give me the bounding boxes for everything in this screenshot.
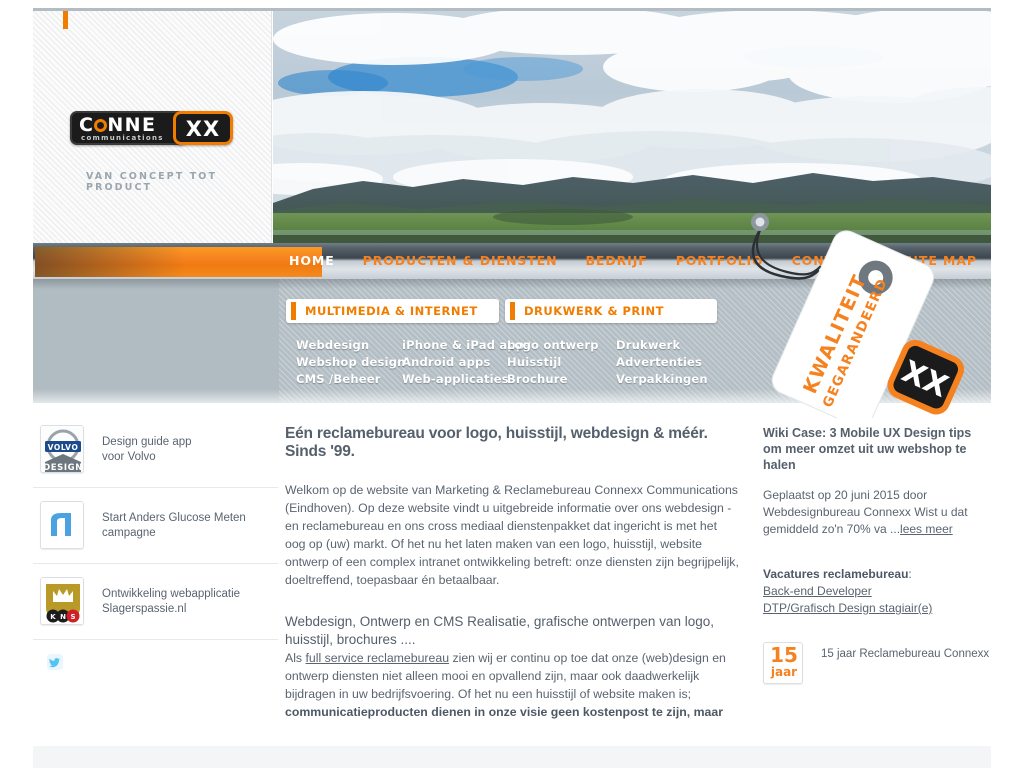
jubileum-row: 15 jaar 15 jaar Reclamebureau Connexx [763,642,991,684]
nav-item-sitemap[interactable]: SITE MAP [903,243,977,279]
page-title-line1: Eén reclamebureau voor logo, huisstijl, … [285,425,708,442]
submenu-links-drukwerk: Logo ontwerp Huisstijl Brochure Drukwerk… [505,337,717,388]
submenu-heading-bar [510,302,515,320]
svg-text:K: K [50,613,56,621]
second-paragraph: Als full service reclamebureau zien wij … [285,649,740,721]
promo-text: Ontwikkeling webapplicatie Slagerspassie… [102,577,240,617]
p2-pre: Als [285,651,306,665]
vacatures-colon: : [908,567,911,581]
submenu-link-huisstijl[interactable]: Huisstijl [507,354,616,371]
orange-tab-marker [63,11,68,29]
nav-item-portfolio[interactable]: PORTFOLIO [662,243,778,279]
submenu-link-cms-beheer[interactable]: CMS /Beheer [296,371,402,388]
promo-line2: Slagerspassie.nl [102,603,186,615]
site-wrapper: CNNE communications XX VAN CONCEPT TOT P… [33,8,991,403]
submenu-link-logo-ontwerp[interactable]: Logo ontwerp [507,337,616,354]
submenu-top-shadow [33,279,991,289]
vacature-link-dtp-stagiair[interactable]: DTP/Grafisch Design stagiair(e) [763,600,991,617]
promo-line1: Ontwikkeling webapplicatie [102,588,240,600]
logo-o-ring [94,119,107,132]
promo-line1: Start Anders Glucose Meten [102,512,246,524]
vacatures-block: Vacatures reclamebureau: Back-end Develo… [763,566,991,617]
vacatures-label: Vacatures reclamebureau [763,567,908,581]
submenu-column-multimedia: MULTIMEDIA & INTERNET Webdesign Webshop … [286,299,499,388]
left-sidebar: VOLVO DESIGN Design guide app voor Volvo [33,425,278,676]
p2-bold: communicatieproducten dienen in onze vis… [285,705,723,719]
wiki-case-body: Geplaatst op 20 juni 2015 door Webdesign… [763,487,991,538]
submenu-link-webdesign[interactable]: Webdesign [296,337,402,354]
svg-text:DESIGN: DESIGN [43,463,83,473]
promo-text: Start Anders Glucose Meten campagne [102,501,246,541]
footer-band [33,746,991,768]
submenu-link-brochure[interactable]: Brochure [507,371,616,388]
right-sidebar: Wiki Case: 3 Mobile UX Design tips om me… [763,425,991,684]
submenu-links-col-left: Webdesign Webshop design CMS /Beheer [296,337,402,388]
svg-text:S: S [70,613,75,621]
main-navigation: HOME PRODUCTEN & DIENSTEN BEDRIJF PORTFO… [33,243,991,279]
site-header: CNNE communications XX VAN CONCEPT TOT P… [33,11,991,243]
svg-text:VOLVO: VOLVO [48,443,79,452]
svg-text:N: N [60,613,66,621]
wiki-case-title[interactable]: Wiki Case: 3 Mobile UX Design tips om me… [763,425,991,473]
submenu-heading-multimedia[interactable]: MULTIMEDIA & INTERNET [286,299,499,323]
submenu-heading-text: MULTIMEDIA & INTERNET [305,304,478,318]
jubileum-badge-icon: 15 jaar [763,642,803,684]
lees-meer-link[interactable]: lees meer [900,522,953,536]
logo-conne-block: CNNE communications [70,111,187,145]
volvo-design-logo-icon: VOLVO DESIGN [40,425,84,473]
jubileum-word: jaar [764,665,804,679]
nav-items: HOME PRODUCTEN & DIENSTEN BEDRIJF PORTFO… [275,243,877,279]
twitter-icon[interactable] [46,653,278,676]
hero-landscape-image [273,11,991,243]
site-logo[interactable]: CNNE communications XX [70,111,233,145]
promo-text: Design guide app voor Volvo [102,425,192,465]
logo-xx-block: XX [173,111,233,145]
submenu-bottom-fade [33,389,991,403]
hero-svg [273,11,991,243]
vacature-link-backend-developer[interactable]: Back-end Developer [763,583,991,600]
main-content: VOLVO DESIGN Design guide app voor Volvo [33,425,991,715]
submenu-column-drukwerk: DRUKWERK & PRINT Logo ontwerp Huisstijl … [505,299,717,388]
abbott-logo-icon [40,501,84,549]
submenu-link-advertenties[interactable]: Advertenties [616,354,708,371]
submenu-band: MULTIMEDIA & INTERNET Webdesign Webshop … [33,279,991,403]
promo-item[interactable]: VOLVO DESIGN Design guide app voor Volvo [33,425,278,488]
page-title-line2: Sinds '99. [285,443,355,460]
logo-subtitle: communications [81,134,164,142]
promo-line2: campagne [102,527,156,539]
submenu-heading-drukwerk[interactable]: DRUKWERK & PRINT [505,299,717,323]
promo-item[interactable]: Start Anders Glucose Meten campagne [33,501,278,564]
submenu-link-drukwerk[interactable]: Drukwerk [616,337,708,354]
page-title: Eén reclamebureau voor logo, huisstijl, … [285,425,740,461]
promo-item[interactable]: K N S Ontwikkeling webapplicatie Slagers… [33,577,278,640]
brand-tagline: VAN CONCEPT TOT PRODUCT [86,171,271,193]
logo-xx-text: XX [176,117,230,141]
vacatures-heading: Vacatures reclamebureau: [763,566,991,583]
nav-item-contact[interactable]: CONTACT [778,243,878,279]
submenu-links-multimedia: Webdesign Webshop design CMS /Beheer iPh… [286,337,499,388]
intro-paragraph: Welkom op de website van Marketing & Rec… [285,481,740,589]
section-subtitle: Webdesign, Ontwerp en CMS Realisatie, gr… [285,613,740,649]
submenu-links-col-right: Drukwerk Advertenties Verpakkingen [616,337,708,388]
kns-crown-logo-icon: K N S [40,577,84,625]
submenu-heading-text: DRUKWERK & PRINT [524,304,664,318]
nav-item-home[interactable]: HOME [275,243,349,279]
logo-panel: CNNE communications XX VAN CONCEPT TOT P… [33,11,272,243]
full-service-link[interactable]: full service reclamebureau [306,651,450,665]
submenu-link-verpakkingen[interactable]: Verpakkingen [616,371,708,388]
logo-conne-text: CNNE [79,115,156,135]
nav-item-bedrijf[interactable]: BEDRIJF [571,243,661,279]
submenu-link-webshop-design[interactable]: Webshop design [296,354,402,371]
page-root: CNNE communications XX VAN CONCEPT TOT P… [0,0,1024,768]
jubileum-text: 15 jaar Reclamebureau Connexx [821,642,989,660]
promo-line2: voor Volvo [102,451,156,463]
nav-item-producten-diensten[interactable]: PRODUCTEN & DIENSTEN [349,243,572,279]
submenu-heading-bar [291,302,296,320]
promo-line1: Design guide app [102,436,192,448]
submenu-links-col-left: Logo ontwerp Huisstijl Brochure [507,337,616,388]
jubileum-number: 15 [764,644,804,666]
main-article: Eén reclamebureau voor logo, huisstijl, … [285,425,740,721]
